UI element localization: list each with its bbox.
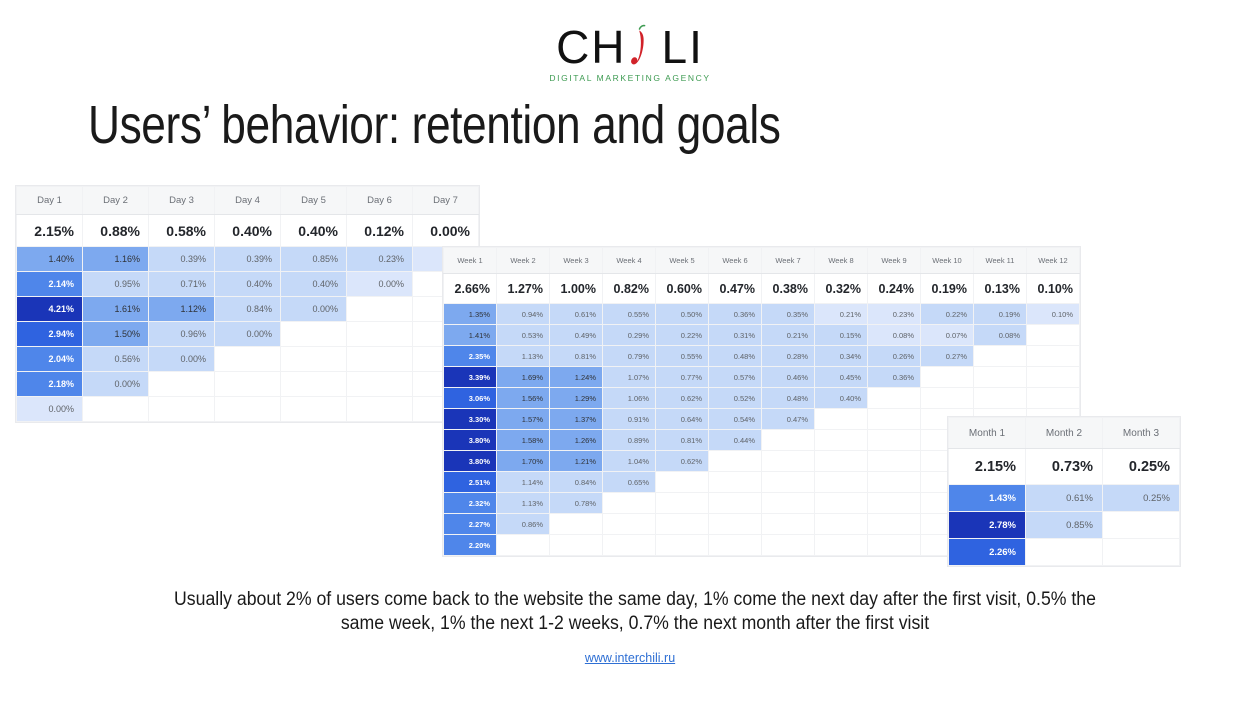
column-header: Week 3 [550, 248, 603, 274]
retention-cell: 0.55% [656, 346, 709, 367]
retention-cell: 1.50% [83, 322, 149, 347]
column-header: Day 6 [347, 187, 413, 215]
retention-cell: 0.08% [868, 325, 921, 346]
retention-cell: 0.36% [709, 304, 762, 325]
retention-cell: 1.61% [83, 297, 149, 322]
retention-cell: 0.25% [1103, 485, 1180, 512]
table-row: 3.06%1.56%1.29%1.06%0.62%0.52%0.48%0.40% [444, 388, 1080, 409]
retention-cell: 0.96% [149, 322, 215, 347]
column-header: Week 4 [603, 248, 656, 274]
column-header: Month 1 [949, 418, 1026, 449]
retention-cell: 0.56% [83, 347, 149, 372]
retention-cell: 2.20% [444, 535, 497, 556]
retention-cell: 1.13% [497, 493, 550, 514]
summary-cell: 0.10% [1027, 274, 1080, 304]
retention-cell: 3.06% [444, 388, 497, 409]
table-row: 0.00% [17, 397, 479, 422]
summary-cell: 0.25% [1103, 449, 1180, 485]
monthly-retention-table: Month 1Month 2Month 3 2.15%0.73%0.25%1.4… [948, 417, 1180, 566]
retention-cell: 0.23% [347, 247, 413, 272]
empty-cell [762, 472, 815, 493]
retention-cell: 0.77% [656, 367, 709, 388]
empty-cell [149, 372, 215, 397]
table-row: 2.14%0.95%0.71%0.40%0.40%0.00% [17, 272, 479, 297]
retention-cell: 0.91% [603, 409, 656, 430]
empty-cell [347, 372, 413, 397]
empty-cell [281, 372, 347, 397]
retention-cell: 0.86% [497, 514, 550, 535]
retention-cell: 3.80% [444, 430, 497, 451]
weekly-table-header: Week 1Week 2Week 3Week 4Week 5Week 6Week… [444, 248, 1080, 274]
retention-cell: 0.21% [762, 325, 815, 346]
chili-pepper-icon [628, 24, 648, 70]
empty-cell [868, 409, 921, 430]
retention-cell: 2.35% [444, 346, 497, 367]
column-header: Day 7 [413, 187, 479, 215]
empty-cell [347, 397, 413, 422]
retention-cell: 0.39% [149, 247, 215, 272]
retention-cell: 0.81% [550, 346, 603, 367]
empty-cell [215, 372, 281, 397]
retention-cell: 0.62% [656, 451, 709, 472]
empty-cell [1103, 539, 1180, 566]
retention-cell: 0.85% [281, 247, 347, 272]
empty-cell [762, 451, 815, 472]
retention-cell: 0.55% [603, 304, 656, 325]
retention-cell: 1.37% [550, 409, 603, 430]
retention-cell: 0.81% [656, 430, 709, 451]
summary-cell: 0.24% [868, 274, 921, 304]
retention-cell: 1.40% [17, 247, 83, 272]
summary-cell: 0.00% [413, 215, 479, 247]
retention-cell: 0.64% [656, 409, 709, 430]
retention-cell: 1.58% [497, 430, 550, 451]
empty-cell [1027, 367, 1080, 388]
retention-cell: 0.19% [974, 304, 1027, 325]
retention-cell: 0.52% [709, 388, 762, 409]
column-header: Day 4 [215, 187, 281, 215]
retention-cell: 0.29% [603, 325, 656, 346]
summary-cell: 0.82% [603, 274, 656, 304]
retention-cell: 0.54% [709, 409, 762, 430]
empty-cell [603, 493, 656, 514]
page-title: Users’ behavior: retention and goals [88, 94, 780, 156]
empty-cell [815, 430, 868, 451]
table-row: 1.41%0.53%0.49%0.29%0.22%0.31%0.21%0.15%… [444, 325, 1080, 346]
empty-cell [974, 388, 1027, 409]
retention-cell: 0.28% [762, 346, 815, 367]
retention-cell: 0.22% [921, 304, 974, 325]
slide-canvas: CH LI DIGITAL MARKETING AGENCY Users’ be… [0, 0, 1260, 709]
retention-cell: 0.50% [656, 304, 709, 325]
empty-cell [762, 514, 815, 535]
table-row: 2.04%0.56%0.00% [17, 347, 479, 372]
summary-cell: 2.66% [444, 274, 497, 304]
empty-cell [921, 367, 974, 388]
retention-cell: 2.78% [949, 512, 1026, 539]
column-header: Day 5 [281, 187, 347, 215]
table-row: 1.40%1.16%0.39%0.39%0.85%0.23%0.00% [17, 247, 479, 272]
empty-cell [868, 514, 921, 535]
summary-cell: 1.00% [550, 274, 603, 304]
retention-cell: 1.04% [603, 451, 656, 472]
retention-cell: 1.57% [497, 409, 550, 430]
daily-retention-table: Day 1Day 2Day 3Day 4Day 5Day 6Day 7 2.15… [16, 186, 479, 422]
retention-cell: 1.06% [603, 388, 656, 409]
retention-cell: 2.04% [17, 347, 83, 372]
retention-cell: 1.16% [83, 247, 149, 272]
column-header: Day 1 [17, 187, 83, 215]
empty-cell [1027, 388, 1080, 409]
retention-cell: 0.23% [868, 304, 921, 325]
column-header: Week 6 [709, 248, 762, 274]
summary-cell: 0.12% [347, 215, 413, 247]
retention-cell: 0.35% [762, 304, 815, 325]
empty-cell [1026, 539, 1103, 566]
retention-cell: 0.85% [1026, 512, 1103, 539]
column-header: Week 11 [974, 248, 1027, 274]
empty-cell [1027, 325, 1080, 346]
retention-cell: 0.08% [974, 325, 1027, 346]
retention-cell: 0.89% [603, 430, 656, 451]
daily-table-header: Day 1Day 2Day 3Day 4Day 5Day 6Day 7 [17, 187, 479, 215]
table-row: 2.94%1.50%0.96%0.00% [17, 322, 479, 347]
column-header: Day 3 [149, 187, 215, 215]
summary-cell: 0.88% [83, 215, 149, 247]
retention-cell: 1.35% [444, 304, 497, 325]
header-row: Day 1Day 2Day 3Day 4Day 5Day 6Day 7 [17, 187, 479, 215]
retention-cell: 2.94% [17, 322, 83, 347]
retention-cell: 0.00% [281, 297, 347, 322]
retention-cell: 1.13% [497, 346, 550, 367]
summary-row: 2.15%0.88%0.58%0.40%0.40%0.12%0.00% [17, 215, 479, 247]
retention-cell: 0.27% [921, 346, 974, 367]
summary-cell: 0.60% [656, 274, 709, 304]
summary-cell: 0.19% [921, 274, 974, 304]
table-row: 4.21%1.61%1.12%0.84%0.00% [17, 297, 479, 322]
retention-cell: 0.22% [656, 325, 709, 346]
retention-cell: 2.18% [17, 372, 83, 397]
summary-cell: 0.73% [1026, 449, 1103, 485]
retention-cell: 0.40% [281, 272, 347, 297]
retention-cell: 0.53% [497, 325, 550, 346]
empty-cell [603, 514, 656, 535]
empty-cell [347, 297, 413, 322]
column-header: Month 2 [1026, 418, 1103, 449]
retention-cell: 0.61% [550, 304, 603, 325]
empty-cell [868, 472, 921, 493]
retention-cell: 0.84% [550, 472, 603, 493]
summary-row: 2.66%1.27%1.00%0.82%0.60%0.47%0.38%0.32%… [444, 274, 1080, 304]
empty-cell [550, 514, 603, 535]
retention-cell: 0.62% [656, 388, 709, 409]
empty-cell [868, 388, 921, 409]
table-row: 2.78%0.85% [949, 512, 1180, 539]
monthly-table-body: 2.15%0.73%0.25%1.43%0.61%0.25%2.78%0.85%… [949, 449, 1180, 566]
summary-cell: 2.15% [949, 449, 1026, 485]
retention-cell: 1.41% [444, 325, 497, 346]
retention-cell: 0.49% [550, 325, 603, 346]
table-row: 2.18%0.00% [17, 372, 479, 397]
column-header: Week 5 [656, 248, 709, 274]
empty-cell [215, 397, 281, 422]
retention-cell: 1.56% [497, 388, 550, 409]
empty-cell [974, 346, 1027, 367]
column-header: Week 1 [444, 248, 497, 274]
retention-cell: 2.51% [444, 472, 497, 493]
retention-cell: 0.71% [149, 272, 215, 297]
retention-cell: 1.07% [603, 367, 656, 388]
column-header: Week 8 [815, 248, 868, 274]
column-header: Week 12 [1027, 248, 1080, 274]
empty-cell [656, 493, 709, 514]
summary-cell: 1.27% [497, 274, 550, 304]
retention-cell: 2.27% [444, 514, 497, 535]
retention-cell: 1.14% [497, 472, 550, 493]
logo-wordmark: CH LI [556, 24, 704, 70]
retention-cell: 4.21% [17, 297, 83, 322]
empty-cell [815, 535, 868, 556]
summary-row: 2.15%0.73%0.25% [949, 449, 1180, 485]
empty-cell [762, 430, 815, 451]
retention-cell: 0.00% [149, 347, 215, 372]
empty-cell [709, 493, 762, 514]
summary-cell: 0.40% [215, 215, 281, 247]
retention-cell: 0.40% [815, 388, 868, 409]
retention-cell: 0.26% [868, 346, 921, 367]
retention-cell: 0.00% [215, 322, 281, 347]
empty-cell [1103, 512, 1180, 539]
retention-cell: 0.94% [497, 304, 550, 325]
empty-cell [868, 535, 921, 556]
summary-cell: 0.38% [762, 274, 815, 304]
retention-cell: 3.30% [444, 409, 497, 430]
monthly-table-header: Month 1Month 2Month 3 [949, 418, 1180, 449]
empty-cell [215, 347, 281, 372]
empty-cell [149, 397, 215, 422]
retention-cell: 3.80% [444, 451, 497, 472]
retention-cell: 0.00% [83, 372, 149, 397]
logo-text-right: LI [662, 24, 704, 70]
retention-cell: 1.70% [497, 451, 550, 472]
summary-cell: 0.13% [974, 274, 1027, 304]
summary-cell: 0.40% [281, 215, 347, 247]
empty-cell [709, 514, 762, 535]
empty-cell [656, 514, 709, 535]
retention-cell: 0.36% [868, 367, 921, 388]
logo-tagline: DIGITAL MARKETING AGENCY [549, 73, 710, 83]
empty-cell [921, 388, 974, 409]
retention-cell: 0.95% [83, 272, 149, 297]
retention-cell: 0.34% [815, 346, 868, 367]
empty-cell [709, 472, 762, 493]
empty-cell [281, 397, 347, 422]
logo-text-left: CH [556, 24, 626, 70]
empty-cell [815, 409, 868, 430]
summary-cell: 0.58% [149, 215, 215, 247]
retention-cell: 0.10% [1027, 304, 1080, 325]
retention-cell: 3.39% [444, 367, 497, 388]
empty-cell [497, 535, 550, 556]
column-header: Day 2 [83, 187, 149, 215]
empty-cell [347, 322, 413, 347]
retention-cell: 1.26% [550, 430, 603, 451]
empty-cell [868, 451, 921, 472]
retention-cell: 0.40% [215, 272, 281, 297]
summary-cell: 0.47% [709, 274, 762, 304]
retention-cell: 0.00% [17, 397, 83, 422]
header-row: Month 1Month 2Month 3 [949, 418, 1180, 449]
slide-caption: Usually about 2% of users come back to t… [156, 588, 1114, 637]
table-row: 3.39%1.69%1.24%1.07%0.77%0.57%0.46%0.45%… [444, 367, 1080, 388]
empty-cell [347, 347, 413, 372]
empty-cell [709, 451, 762, 472]
summary-cell: 0.32% [815, 274, 868, 304]
empty-cell [656, 535, 709, 556]
retention-cell: 0.79% [603, 346, 656, 367]
retention-cell: 1.12% [149, 297, 215, 322]
retention-cell: 0.78% [550, 493, 603, 514]
empty-cell [550, 535, 603, 556]
retention-cell: 0.48% [762, 388, 815, 409]
column-header: Week 9 [868, 248, 921, 274]
column-header: Month 3 [1103, 418, 1180, 449]
retention-cell: 0.15% [815, 325, 868, 346]
retention-cell: 0.45% [815, 367, 868, 388]
empty-cell [709, 535, 762, 556]
retention-cell: 0.46% [762, 367, 815, 388]
column-header: Week 2 [497, 248, 550, 274]
retention-cell: 0.47% [762, 409, 815, 430]
column-header: Week 10 [921, 248, 974, 274]
empty-cell [974, 367, 1027, 388]
retention-cell: 0.65% [603, 472, 656, 493]
empty-cell [815, 451, 868, 472]
empty-cell [1027, 346, 1080, 367]
retention-cell: 0.31% [709, 325, 762, 346]
empty-cell [815, 514, 868, 535]
retention-cell: 1.21% [550, 451, 603, 472]
daily-table-body: 2.15%0.88%0.58%0.40%0.40%0.12%0.00%1.40%… [17, 215, 479, 422]
retention-cell: 1.29% [550, 388, 603, 409]
empty-cell [762, 535, 815, 556]
retention-cell: 0.61% [1026, 485, 1103, 512]
column-header: Week 7 [762, 248, 815, 274]
empty-cell [83, 397, 149, 422]
empty-cell [868, 493, 921, 514]
header-row: Week 1Week 2Week 3Week 4Week 5Week 6Week… [444, 248, 1080, 274]
brand-logo: CH LI DIGITAL MARKETING AGENCY [0, 24, 1260, 83]
website-link[interactable]: www.interchili.ru [0, 651, 1260, 665]
retention-cell: 1.24% [550, 367, 603, 388]
empty-cell [281, 322, 347, 347]
table-row: 1.35%0.94%0.61%0.55%0.50%0.36%0.35%0.21%… [444, 304, 1080, 325]
retention-cell: 2.26% [949, 539, 1026, 566]
table-row: 2.35%1.13%0.81%0.79%0.55%0.48%0.28%0.34%… [444, 346, 1080, 367]
table-row: 1.43%0.61%0.25% [949, 485, 1180, 512]
empty-cell [656, 472, 709, 493]
retention-cell: 1.69% [497, 367, 550, 388]
table-row: 2.26% [949, 539, 1180, 566]
retention-cell: 1.43% [949, 485, 1026, 512]
retention-cell: 2.14% [17, 272, 83, 297]
empty-cell [603, 535, 656, 556]
empty-cell [762, 493, 815, 514]
retention-cell: 0.44% [709, 430, 762, 451]
retention-cell: 0.00% [347, 272, 413, 297]
summary-cell: 2.15% [17, 215, 83, 247]
empty-cell [868, 430, 921, 451]
empty-cell [815, 493, 868, 514]
retention-cell: 0.21% [815, 304, 868, 325]
retention-cell: 0.57% [709, 367, 762, 388]
empty-cell [281, 347, 347, 372]
retention-cell: 0.84% [215, 297, 281, 322]
empty-cell [815, 472, 868, 493]
retention-cell: 0.39% [215, 247, 281, 272]
retention-cell: 0.07% [921, 325, 974, 346]
retention-cell: 0.48% [709, 346, 762, 367]
retention-cell: 2.32% [444, 493, 497, 514]
